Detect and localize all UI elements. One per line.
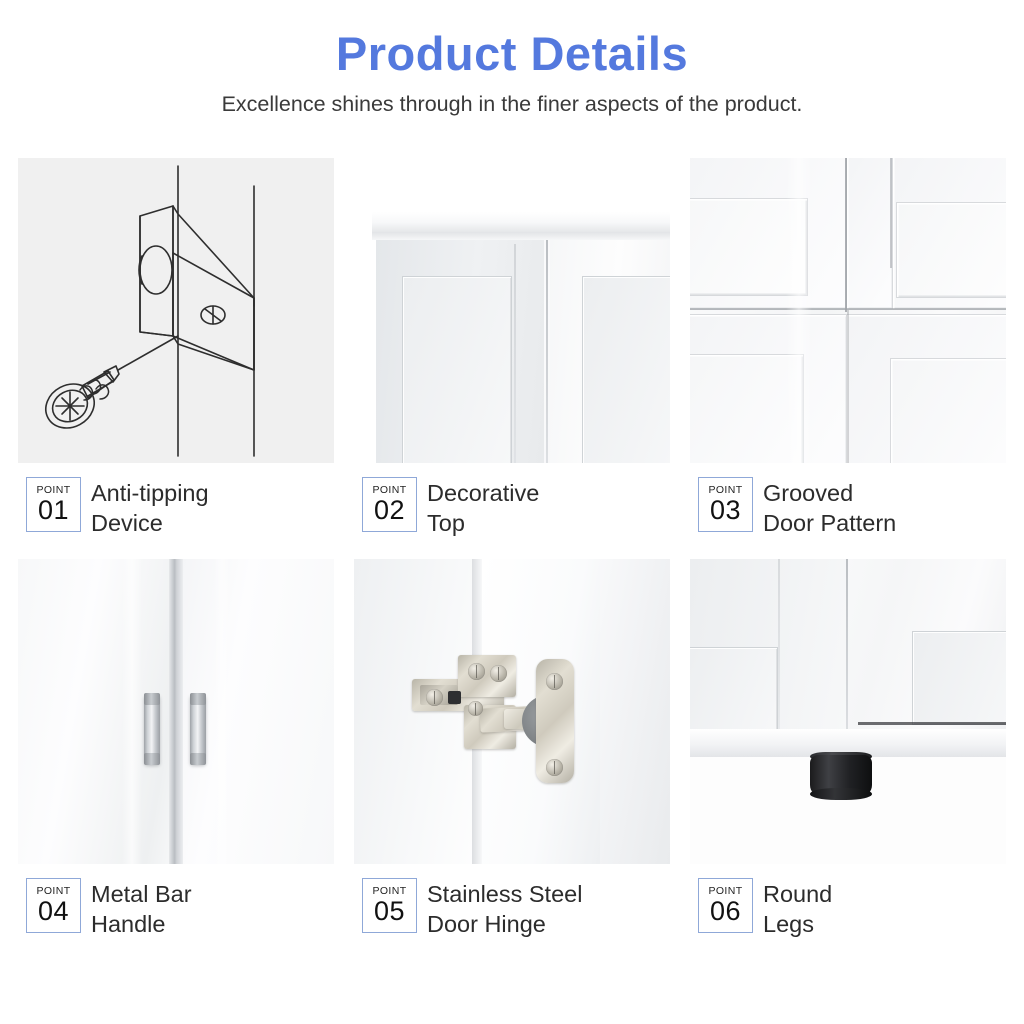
badge-number: 05 bbox=[374, 898, 405, 925]
detail-image-anti-tipping-device bbox=[18, 158, 334, 463]
detail-cell-02: POINT 02 Decorative Top bbox=[354, 158, 670, 538]
detail-cell-03: POINT 03 Grooved Door Pattern bbox=[690, 158, 1006, 538]
detail-caption-04: POINT 04 Metal Bar Handle bbox=[18, 864, 334, 939]
detail-label-04: Metal Bar Handle bbox=[91, 878, 192, 939]
detail-caption-01: POINT 01 Anti-tipping Device bbox=[18, 463, 334, 538]
point-badge-02: POINT 02 bbox=[362, 477, 417, 532]
detail-label-06: Round Legs bbox=[763, 878, 832, 939]
anti-tipping-bracket-diagram-icon bbox=[18, 158, 334, 463]
detail-caption-02: POINT 02 Decorative Top bbox=[354, 463, 670, 538]
detail-label-02: Decorative Top bbox=[427, 477, 539, 538]
cabinet-top-photo bbox=[354, 158, 670, 463]
detail-image-metal-bar-handle bbox=[18, 559, 334, 864]
detail-image-round-legs bbox=[690, 559, 1006, 864]
detail-label-03: Grooved Door Pattern bbox=[763, 477, 896, 538]
detail-cell-04: POINT 04 Metal Bar Handle bbox=[18, 559, 334, 939]
badge-number: 02 bbox=[374, 497, 405, 524]
detail-caption-03: POINT 03 Grooved Door Pattern bbox=[690, 463, 1006, 538]
header: Product Details Excellence shines throug… bbox=[0, 0, 1024, 117]
detail-image-stainless-steel-door-hinge bbox=[354, 559, 670, 864]
page-title: Product Details bbox=[0, 30, 1024, 77]
point-badge-01: POINT 01 bbox=[26, 477, 81, 532]
detail-label-05: Stainless Steel Door Hinge bbox=[427, 878, 582, 939]
badge-number: 04 bbox=[38, 898, 69, 925]
detail-cell-05: POINT 05 Stainless Steel Door Hinge bbox=[354, 559, 670, 939]
detail-image-grooved-door-pattern bbox=[690, 158, 1006, 463]
point-badge-04: POINT 04 bbox=[26, 878, 81, 933]
badge-number: 03 bbox=[710, 497, 741, 524]
detail-label-01: Anti-tipping Device bbox=[91, 477, 209, 538]
round-leg-photo bbox=[690, 559, 1006, 864]
detail-caption-05: POINT 05 Stainless Steel Door Hinge bbox=[354, 864, 670, 939]
product-details-page: Product Details Excellence shines throug… bbox=[0, 0, 1024, 1024]
badge-number: 01 bbox=[38, 497, 69, 524]
details-grid: POINT 01 Anti-tipping Device bbox=[18, 158, 1006, 939]
badge-number: 06 bbox=[710, 898, 741, 925]
point-badge-05: POINT 05 bbox=[362, 878, 417, 933]
detail-cell-06: POINT 06 Round Legs bbox=[690, 559, 1006, 939]
stainless-steel-hinge-photo bbox=[354, 559, 670, 864]
point-badge-03: POINT 03 bbox=[698, 477, 753, 532]
detail-caption-06: POINT 06 Round Legs bbox=[690, 864, 1006, 939]
metal-bar-handle-photo bbox=[18, 559, 334, 864]
detail-cell-01: POINT 01 Anti-tipping Device bbox=[18, 158, 334, 538]
detail-image-decorative-top bbox=[354, 158, 670, 463]
point-badge-06: POINT 06 bbox=[698, 878, 753, 933]
page-subtitle: Excellence shines through in the finer a… bbox=[0, 93, 1024, 117]
grooved-door-photo bbox=[690, 158, 1006, 463]
